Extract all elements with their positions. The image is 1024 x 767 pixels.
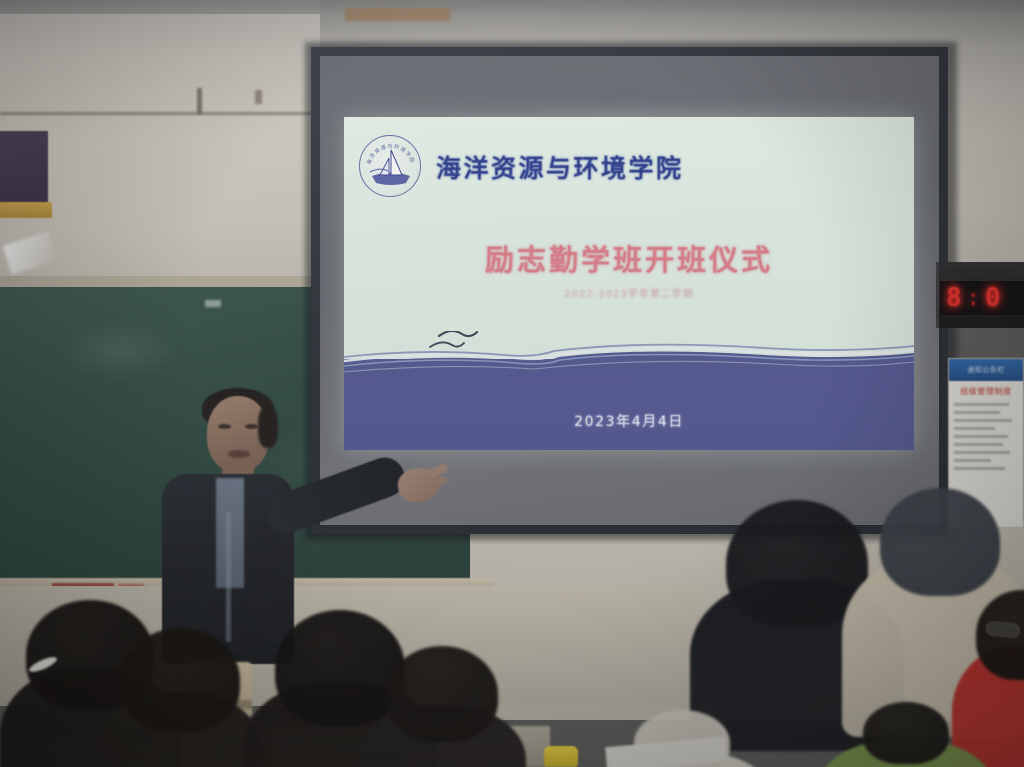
wall-panel-purple [0,131,48,203]
ceiling-band [0,0,1024,14]
chalk-smudge [60,320,180,380]
poster-title: 班级管理制度 [949,386,1023,397]
slide-college-name: 海洋资源与环境学院 [436,149,684,185]
presenter-eye [245,424,258,429]
wall-patch [345,8,450,21]
presenter-mouth [228,450,250,458]
presenter-hair-side [258,406,278,448]
classroom-photo: 海洋资源与环境学院 海洋资源与环境学院 励志勤学班开班仪式 2022-2023学… [0,0,1024,767]
clock-colon: : [967,286,980,311]
wall-seam [0,112,330,115]
seagull-icon [430,331,477,347]
wall-nail [197,88,202,114]
clock-digits-left: 8 [946,285,962,311]
college-logo-icon: 海洋资源与环境学院 [359,135,421,197]
audience-head [880,488,1000,596]
audience-head [120,628,240,732]
presenter-eye [218,424,231,429]
slide-subtitle: 2022-2023学年第二学期 [344,285,914,300]
wall-strip-yellow [0,202,52,218]
chalk-mark [205,300,221,307]
slide-main-title: 励志勤学班开班仪式 [344,237,914,279]
poster-header-text: 通知公告栏 [949,359,1023,381]
yellow-cup [544,746,578,767]
clock-digits-right: 0 [985,285,1001,311]
poster-header: 通知公告栏 [949,359,1023,381]
student-center [358,646,526,767]
student-left-hairband [96,628,264,767]
wall-nail [255,90,262,104]
poster-body-lines [949,397,1023,470]
audience-head [863,702,949,764]
student-green-jacket [818,702,994,767]
audience-group [0,470,1024,767]
slide-date: 2023年4月4日 [344,411,914,431]
audience-head [386,646,498,742]
digital-clock-display: 8 : 0 [940,281,1024,315]
